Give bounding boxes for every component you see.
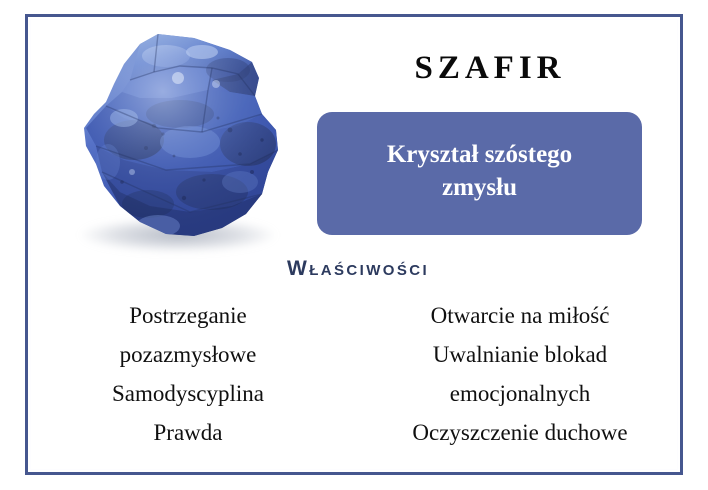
tagline-line-2: zmysłu [442,174,517,201]
tagline-callout: Kryształ szóstego zmysłu [317,112,642,235]
list-item: Oczyszczenie duchowe [372,413,668,452]
list-item: Prawda [40,413,336,452]
properties-column-right: Otwarcie na miłość Uwalnianie blokad emo… [362,296,668,452]
list-item: Samodyscyplina [40,374,336,413]
list-item: Otwarcie na miłość [372,296,668,335]
sapphire-image [62,22,302,254]
tagline-text: Kryształ szóstego zmysłu [387,138,572,204]
list-item: Postrzeganie [40,296,336,335]
tagline-line-1: Kryształ szóstego [387,141,572,168]
list-item: pozazmysłowe [40,335,336,374]
list-item: emocjonalnych [372,374,668,413]
properties-list: Postrzeganie pozazmysłowe Samodyscyplina… [40,296,668,456]
sapphire-rough-crystal-icon [62,22,302,254]
properties-column-left: Postrzeganie pozazmysłowe Samodyscyplina… [40,296,362,452]
gemstone-info-card: SZAFIR Kryształ szóstego zmysłu Właściwo… [0,0,708,490]
page-title: SZAFIR [330,52,650,85]
list-item: Uwalnianie blokad [372,335,668,374]
properties-heading: Właściwości [178,258,538,279]
